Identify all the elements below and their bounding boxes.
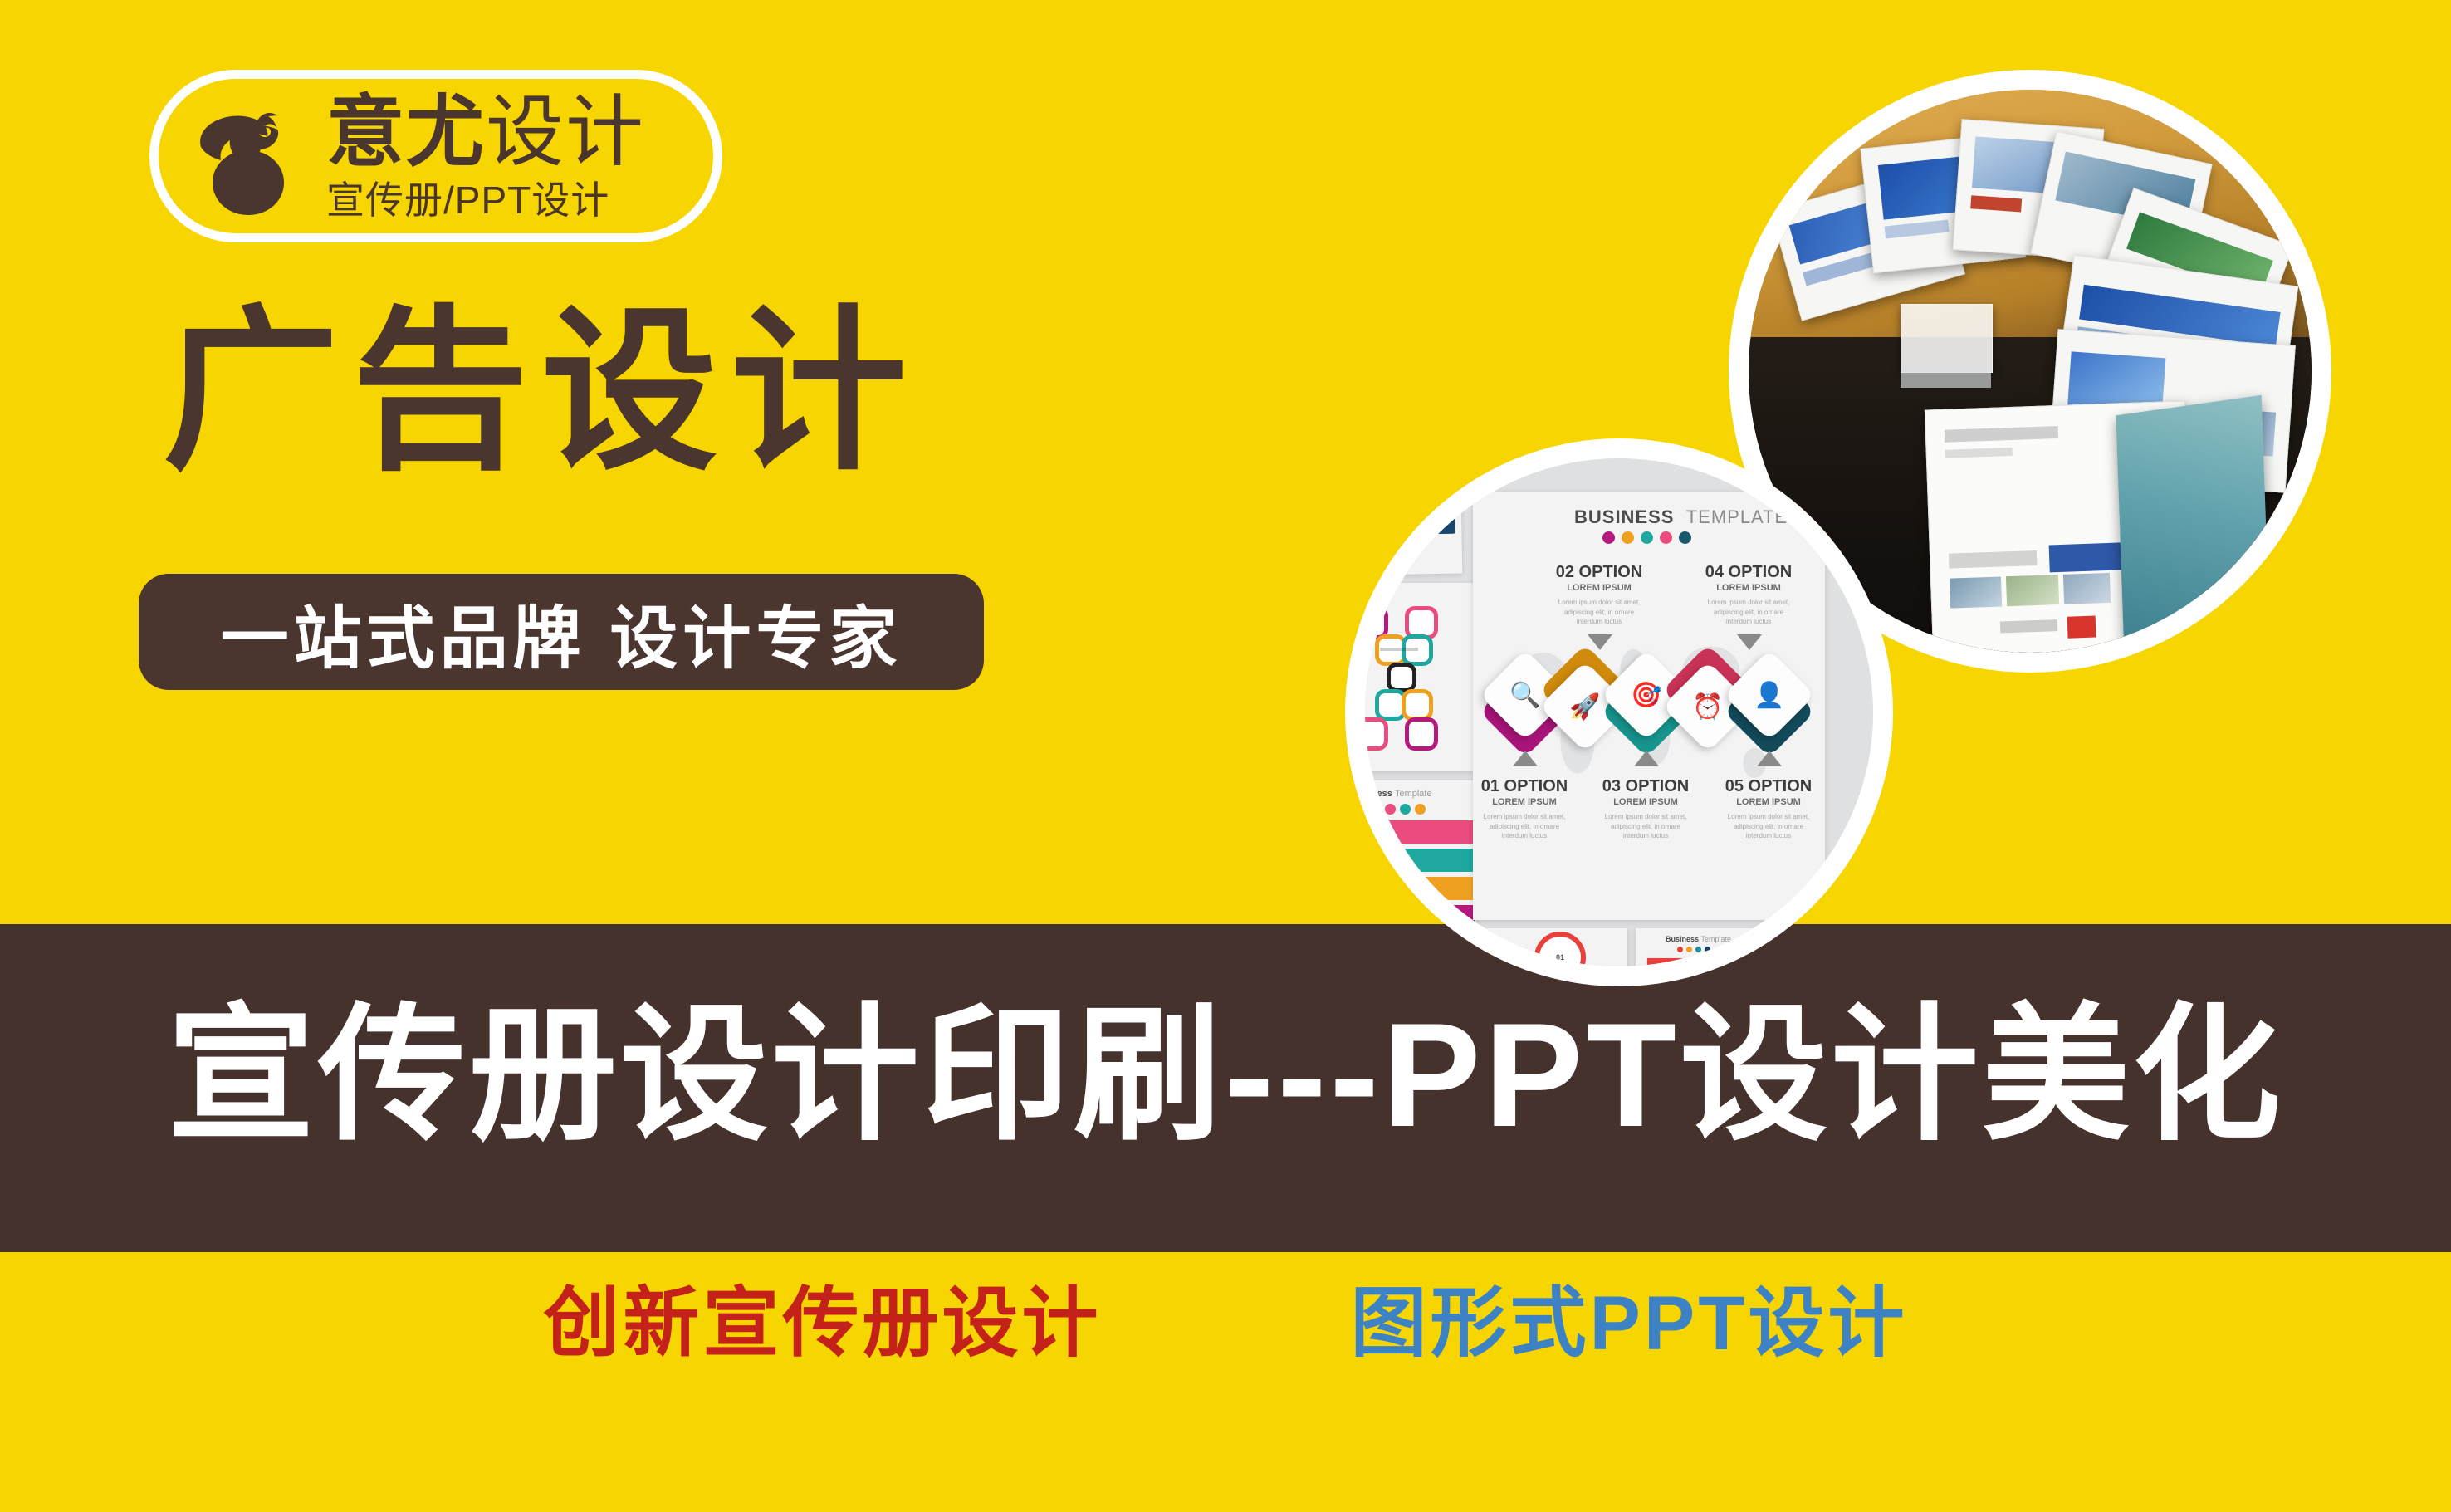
advertising-banner: 意尤 设计 宣传册/PPT设计 广告设计 一站式品牌 设计专家 ⌂: [0, 0, 2451, 1512]
brand-name-light: 设计: [486, 93, 645, 171]
headline-band-label: 宣传册设计印刷---PPT设计美化: [0, 991, 2451, 1161]
footer-tags: 创新宣传册设计 图形式PPT设计: [0, 1285, 2451, 1362]
brand-name-heavy: 意尤: [326, 93, 486, 171]
right-edge-sheet: Business: [1782, 928, 1873, 966]
brand-logo-block: 意尤 设计 宣传册/PPT设计: [149, 70, 722, 242]
brand-subtitle: 宣传册/PPT设计: [326, 181, 645, 219]
cycle-sheet: 01 02 03 04 BUSINESS TEMPLATE: [1481, 928, 1627, 966]
leaf-bird-logo-icon: [174, 86, 315, 227]
main-option-sheet: BUSINESS TEMPLATE 02 OPTION LOREM IPSUM …: [1473, 492, 1825, 920]
brand-logo-text: 意尤 设计 宣传册/PPT设计: [326, 93, 645, 219]
small-map-sheet: BUSINESS TEMPLATE 04 OPTION: [1365, 928, 1475, 966]
steps-sheet: Business Template 01 STEP 02 STEP 03 STE…: [1636, 928, 1773, 966]
ppt-template-collage: ⌂ Business Te: [1365, 458, 1873, 966]
brand-name: 意尤 设计: [326, 93, 645, 171]
ppt-templates-photo-inner: ⌂ Business Te: [1365, 458, 1873, 966]
page-title: 广告设计: [163, 297, 920, 487]
ribbon-sheet: ⌂: [1365, 458, 1462, 575]
tagline-badge-label: 一站式品牌 设计专家: [221, 583, 903, 682]
presenter-icon: 👤: [1737, 663, 1802, 727]
footer-tag-brochure: 创新宣传册设计: [544, 1285, 1102, 1362]
tagline-badge: 一站式品牌 设计专家: [139, 574, 984, 690]
grid-sheet: [1365, 583, 1475, 771]
footer-tag-ppt: 图形式PPT设计: [1351, 1285, 1908, 1362]
ppt-templates-photo: ⌂ Business Te: [1345, 438, 1893, 986]
